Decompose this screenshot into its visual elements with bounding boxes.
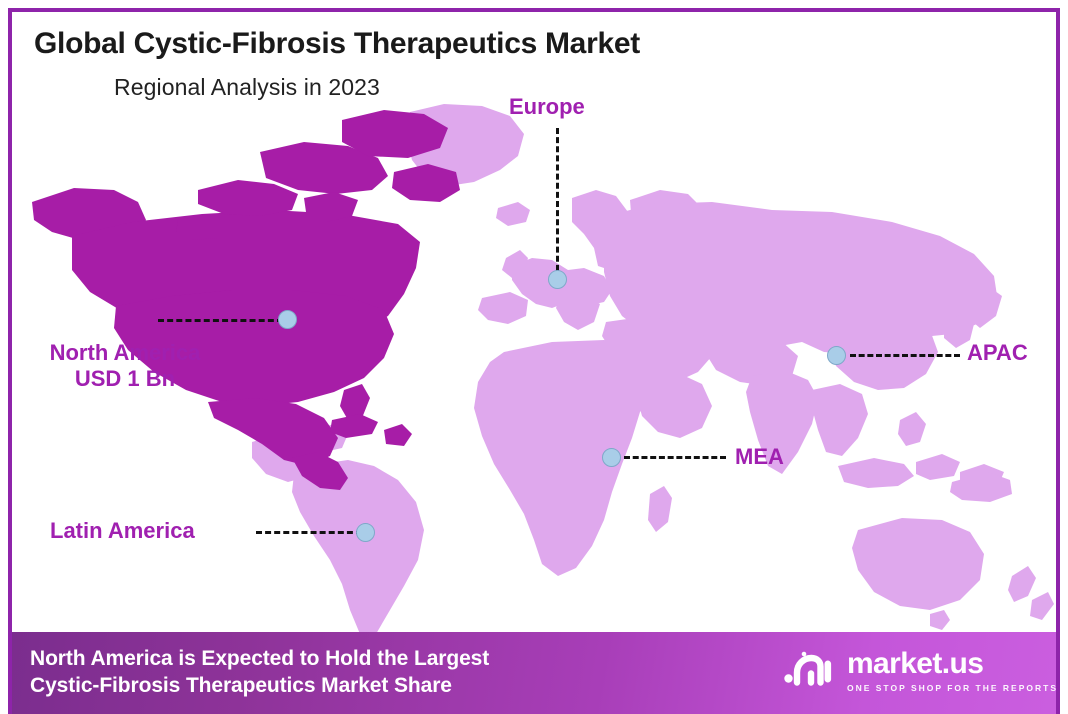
map-highlight-north-america xyxy=(32,110,460,490)
market-us-logo-icon xyxy=(784,651,836,691)
footer-banner-text: North America is Expected to Hold the La… xyxy=(30,646,489,700)
region-label-apac: APAC xyxy=(967,340,1028,366)
region-label-mea: MEA xyxy=(735,444,784,470)
brand-logo-text: market.us ONE STOP SHOP FOR THE REPORTS xyxy=(847,649,1058,693)
leader-line-europe xyxy=(556,128,559,280)
leader-line-north-america xyxy=(158,319,283,322)
brand-logo[interactable]: market.us ONE STOP SHOP FOR THE REPORTS xyxy=(784,649,1058,693)
brand-name: market.us xyxy=(847,649,1058,679)
map-marker-apac xyxy=(827,346,846,365)
page-title: Global Cystic-Fibrosis Therapeutics Mark… xyxy=(34,27,640,61)
footer-banner-line2: Cystic-Fibrosis Therapeutics Market Shar… xyxy=(30,673,489,700)
leader-line-apac xyxy=(850,354,960,357)
map-marker-north-america xyxy=(278,310,297,329)
region-label-north-america-name: North America xyxy=(50,340,201,365)
region-label-latin-america: Latin America xyxy=(50,518,195,544)
region-label-north-america: North America USD 1 Bn xyxy=(30,340,220,392)
footer-banner: North America is Expected to Hold the La… xyxy=(12,632,1060,714)
infographic-root: Global Cystic-Fibrosis Therapeutics Mark… xyxy=(0,0,1068,714)
region-label-europe: Europe xyxy=(509,94,585,120)
leader-line-mea xyxy=(624,456,726,459)
footer-banner-line1: North America is Expected to Hold the La… xyxy=(30,646,489,673)
map-marker-mea xyxy=(602,448,621,467)
map-marker-latin-america xyxy=(356,523,375,542)
leader-line-latin-america xyxy=(256,531,362,534)
brand-tagline: ONE STOP SHOP FOR THE REPORTS xyxy=(847,683,1058,693)
map-marker-europe xyxy=(548,270,567,289)
region-value-north-america: USD 1 Bn xyxy=(30,366,220,392)
infographic-frame: Global Cystic-Fibrosis Therapeutics Mark… xyxy=(8,8,1060,714)
